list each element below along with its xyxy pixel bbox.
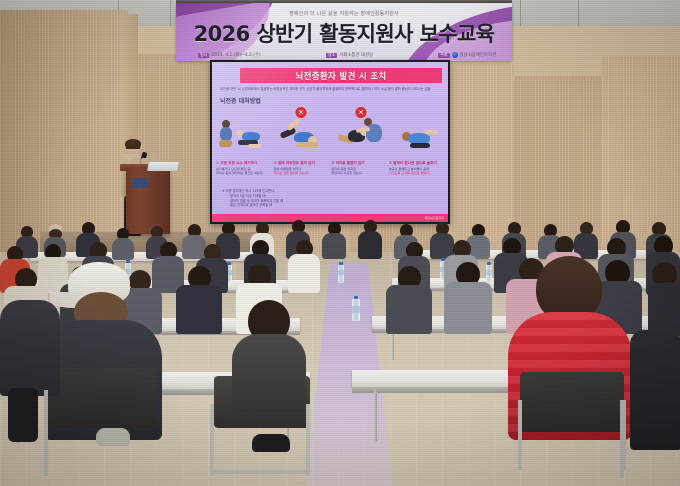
host-tag: 주최 bbox=[438, 53, 449, 58]
water-bottle bbox=[352, 296, 360, 321]
seminar-photo: 장애인의 더 나은 삶을 지원하는 장애인활동지원사 2026 상반기 활동지원… bbox=[0, 0, 680, 486]
figure-panel-2: ✕ bbox=[278, 108, 324, 160]
audience-member bbox=[288, 240, 320, 292]
banner-footer-place: 장소 사회소통관 대강당 bbox=[326, 52, 373, 58]
slide-heading-bar: 뇌전증환자 발견 시 조치 bbox=[240, 68, 442, 83]
caption-body: 날카롭거나 단단한 물건 등, 머리나 몸에 부딪히는 물건은 치운다. bbox=[216, 167, 273, 175]
podium-plate bbox=[132, 178, 148, 188]
audience-member bbox=[176, 266, 222, 332]
figure-panel-3: ✕ bbox=[338, 108, 384, 160]
place-value: 사회소통관 대강당 bbox=[339, 52, 373, 58]
coat-on-chair bbox=[630, 330, 680, 470]
audience-member bbox=[444, 262, 492, 332]
caption-title: ② 입에 아무것도 넣지 않기 bbox=[274, 161, 331, 165]
chair bbox=[52, 368, 156, 428]
x-mark-icon: ✕ bbox=[356, 107, 367, 118]
slide-content: 뇌전증환자 발견 시 조치 뇌전증이란? 뇌 신경세포에서 발생하는 비정상적인… bbox=[212, 62, 448, 222]
chair-frame bbox=[210, 404, 214, 476]
figure-panel-1 bbox=[218, 108, 264, 160]
shoe bbox=[96, 428, 130, 446]
slide-description: 뇌전증이란? 뇌 신경세포에서 발생하는 비정상적인 과도한 전기 신호가 불규… bbox=[220, 87, 442, 91]
shoe bbox=[252, 434, 290, 452]
table-leg bbox=[374, 389, 377, 441]
slide-footer-bar: 대한뇌전증학회 bbox=[212, 214, 448, 222]
table-leg bbox=[392, 330, 394, 360]
slide-notes: ※ 다음 경우에는 즉시 119에 신고한다. · 발작이 5분 이상 지속될 … bbox=[222, 189, 442, 208]
slide-heading: 뇌전증환자 발견 시 조치 bbox=[296, 70, 387, 82]
audience-member bbox=[386, 266, 432, 332]
chair-frame bbox=[210, 470, 310, 474]
caption-body: 입에 이물질을 넣거나 억지로 입을 벌리지 않는다. bbox=[274, 167, 331, 175]
banner-title: 2026 상반기 활동지원사 보수교육 bbox=[176, 18, 512, 48]
caption-body: 환자의 몸을 억지로 붙잡거나 누르지 않는다. bbox=[331, 167, 388, 175]
audience-member bbox=[358, 220, 382, 258]
projection-screen: 뇌전증환자 발견 시 조치 뇌전증이란? 뇌 신경세포에서 발생하는 비정상적인… bbox=[210, 60, 450, 224]
audience-member bbox=[648, 262, 680, 334]
chair-frame bbox=[620, 400, 624, 478]
water-bottle bbox=[338, 262, 344, 283]
audience-member bbox=[322, 222, 346, 258]
slide-subheading: 뇌전증 대처방법 bbox=[220, 96, 261, 105]
chair-frame bbox=[306, 404, 310, 476]
audience-member bbox=[112, 228, 134, 258]
chair-frame bbox=[44, 390, 48, 476]
slide-footer-note: 대한뇌전증학회 bbox=[425, 216, 444, 220]
figure-panel-4 bbox=[398, 108, 444, 160]
banner-subtitle: 장애인의 더 나은 삶을 지원하는 장애인활동지원사 bbox=[176, 10, 512, 17]
audience-member bbox=[0, 300, 60, 450]
caption-title: ④ 발작이 끝나면 옆으로 눕히기 bbox=[389, 161, 446, 165]
chair-frame bbox=[518, 400, 522, 470]
slide-figure-row: ✕ ✕ bbox=[218, 108, 444, 160]
banner-footer: 일시 2025. 4.1.(화)~4.2.(수) 장소 사회소통관 대강당 주최… bbox=[198, 52, 496, 58]
banner-footer-host: 주최 충남시장애인복지관 bbox=[438, 52, 496, 58]
podium-laptop bbox=[147, 162, 179, 171]
banner-footer-date: 일시 2025. 4.1.(화)~4.2.(수) bbox=[198, 52, 261, 58]
audience-member bbox=[232, 300, 306, 410]
place-tag: 장소 bbox=[326, 53, 337, 58]
caption-title: ① 주변 위험 요소 제거하기 bbox=[216, 161, 273, 165]
event-banner: 장애인의 더 나은 삶을 지원하는 장애인활동지원사 2026 상반기 활동지원… bbox=[176, 3, 512, 61]
chair bbox=[520, 372, 624, 432]
host-value: 충남시장애인복지관 bbox=[460, 52, 496, 58]
x-mark-icon: ✕ bbox=[296, 107, 307, 118]
date-tag: 일시 bbox=[198, 53, 209, 58]
caption-body: 호흡이 편해지고 분비물이 흘러 나오도록 고개를 옆으로 돌린다. bbox=[389, 167, 446, 175]
org-circle-logo-icon bbox=[452, 52, 458, 58]
date-value: 2025. 4.1.(화)~4.2.(수) bbox=[211, 52, 260, 58]
caption-title: ③ 억지로 붙잡지 않기 bbox=[331, 161, 388, 165]
